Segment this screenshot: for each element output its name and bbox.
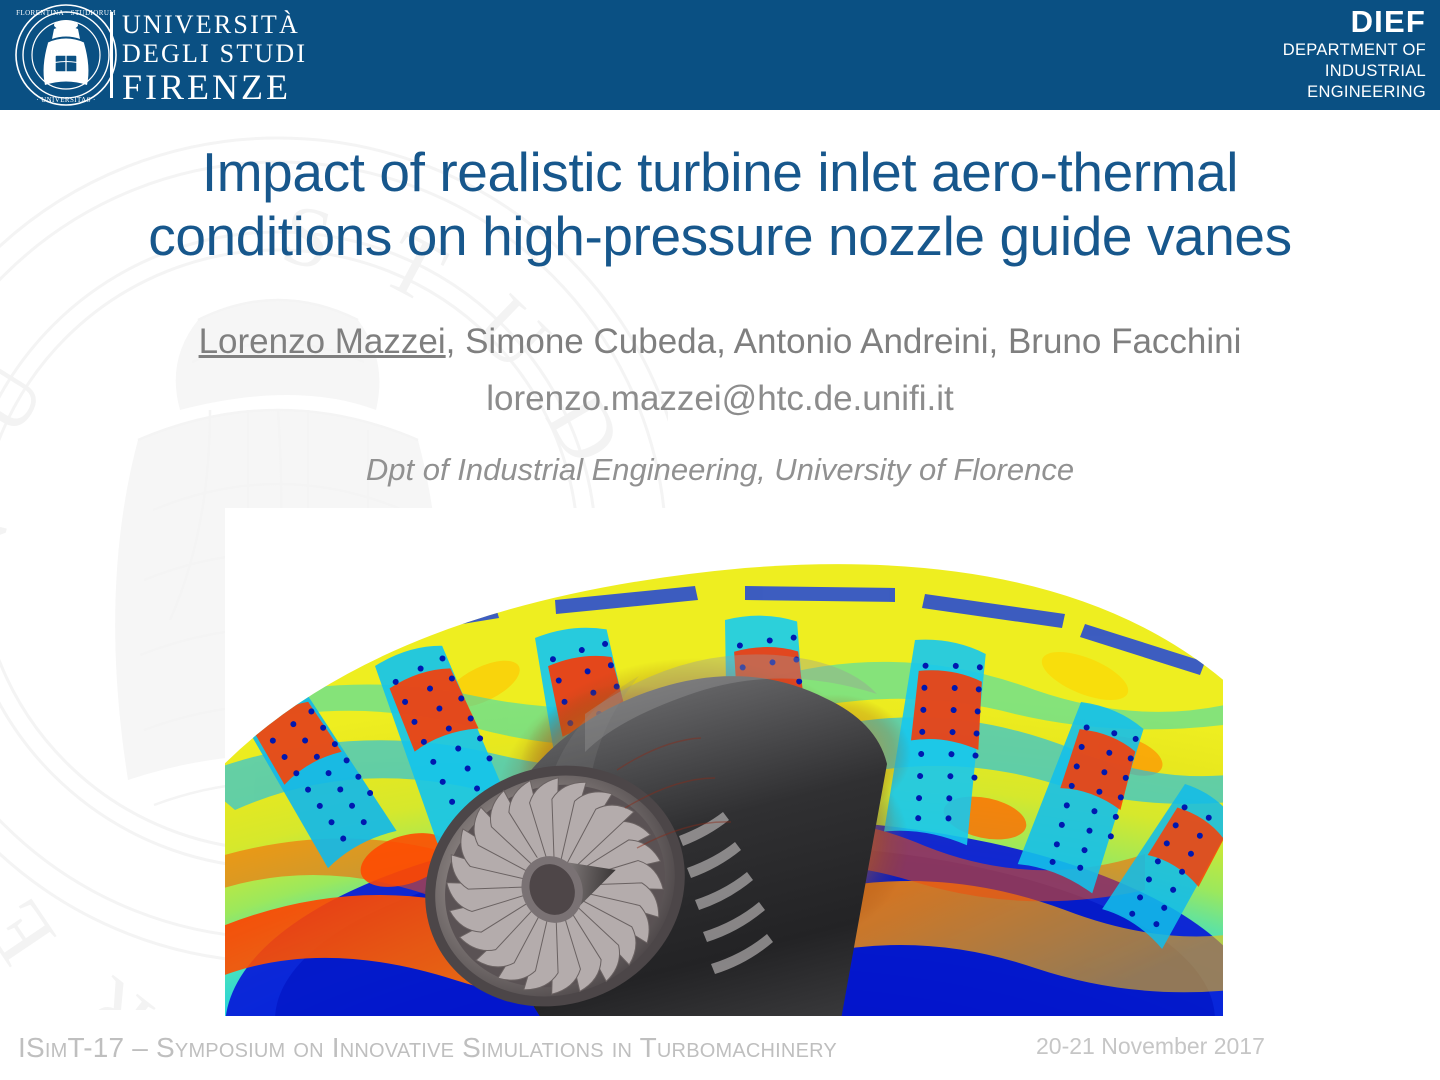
university-name-block: UNIVERSITÀ DEGLI STUDI FIRENZE	[122, 12, 307, 105]
co-authors: , Simone Cubeda, Antonio Andreini, Bruno…	[446, 322, 1242, 361]
svg-text:R: R	[65, 959, 170, 1010]
svg-text:E: E	[0, 884, 74, 981]
university-line-3: FIRENZE	[122, 69, 307, 105]
cfd-visualization-figure	[225, 508, 1223, 1016]
svg-text:V: V	[0, 765, 18, 851]
presentation-slide: U N I V E R S I S T U D I O	[0, 0, 1440, 1080]
affiliation: Dpt of Industrial Engineering, Universit…	[0, 452, 1440, 488]
title-line-1: Impact of realistic turbine inlet aero-t…	[0, 140, 1440, 204]
svg-text:N: N	[0, 501, 27, 584]
university-line-1: UNIVERSITÀ	[122, 12, 307, 38]
footer-conference-name: ISimT-17 – Symposium on Innovative Simul…	[18, 1032, 837, 1064]
svg-text:I: I	[0, 681, 5, 713]
svg-text:· UNIVERSITAS ·: · UNIVERSITAS ·	[36, 96, 96, 104]
department-line-2: INDUSTRIAL	[1283, 62, 1426, 81]
author-list: Lorenzo Mazzei, Simone Cubeda, Antonio A…	[0, 322, 1440, 362]
university-line-2: DEGLI STUDI	[122, 41, 307, 67]
department-acronym: DIEF	[1283, 6, 1426, 39]
department-block: DIEF DEPARTMENT OF INDUSTRIAL ENGINEERIN…	[1283, 6, 1426, 103]
university-seal-icon: FLORENTINA · STUDIORUM · UNIVERSITAS ·	[14, 3, 118, 107]
header-divider	[110, 12, 113, 98]
department-line-1: DEPARTMENT OF	[1283, 41, 1426, 60]
contact-email: lorenzo.mazzei@htc.de.unifi.it	[0, 379, 1440, 419]
slide-title: Impact of realistic turbine inlet aero-t…	[0, 140, 1440, 269]
footer-date: 20-21 November 2017	[1036, 1033, 1265, 1060]
svg-text:FLORENTINA · STUDIORUM: FLORENTINA · STUDIORUM	[16, 9, 116, 17]
slide-header-bar: FLORENTINA · STUDIORUM · UNIVERSITAS · U…	[0, 0, 1440, 110]
title-line-2: conditions on high-pressure nozzle guide…	[0, 204, 1440, 268]
department-line-3: ENGINEERING	[1283, 83, 1426, 102]
presenting-author: Lorenzo Mazzei	[199, 322, 446, 361]
